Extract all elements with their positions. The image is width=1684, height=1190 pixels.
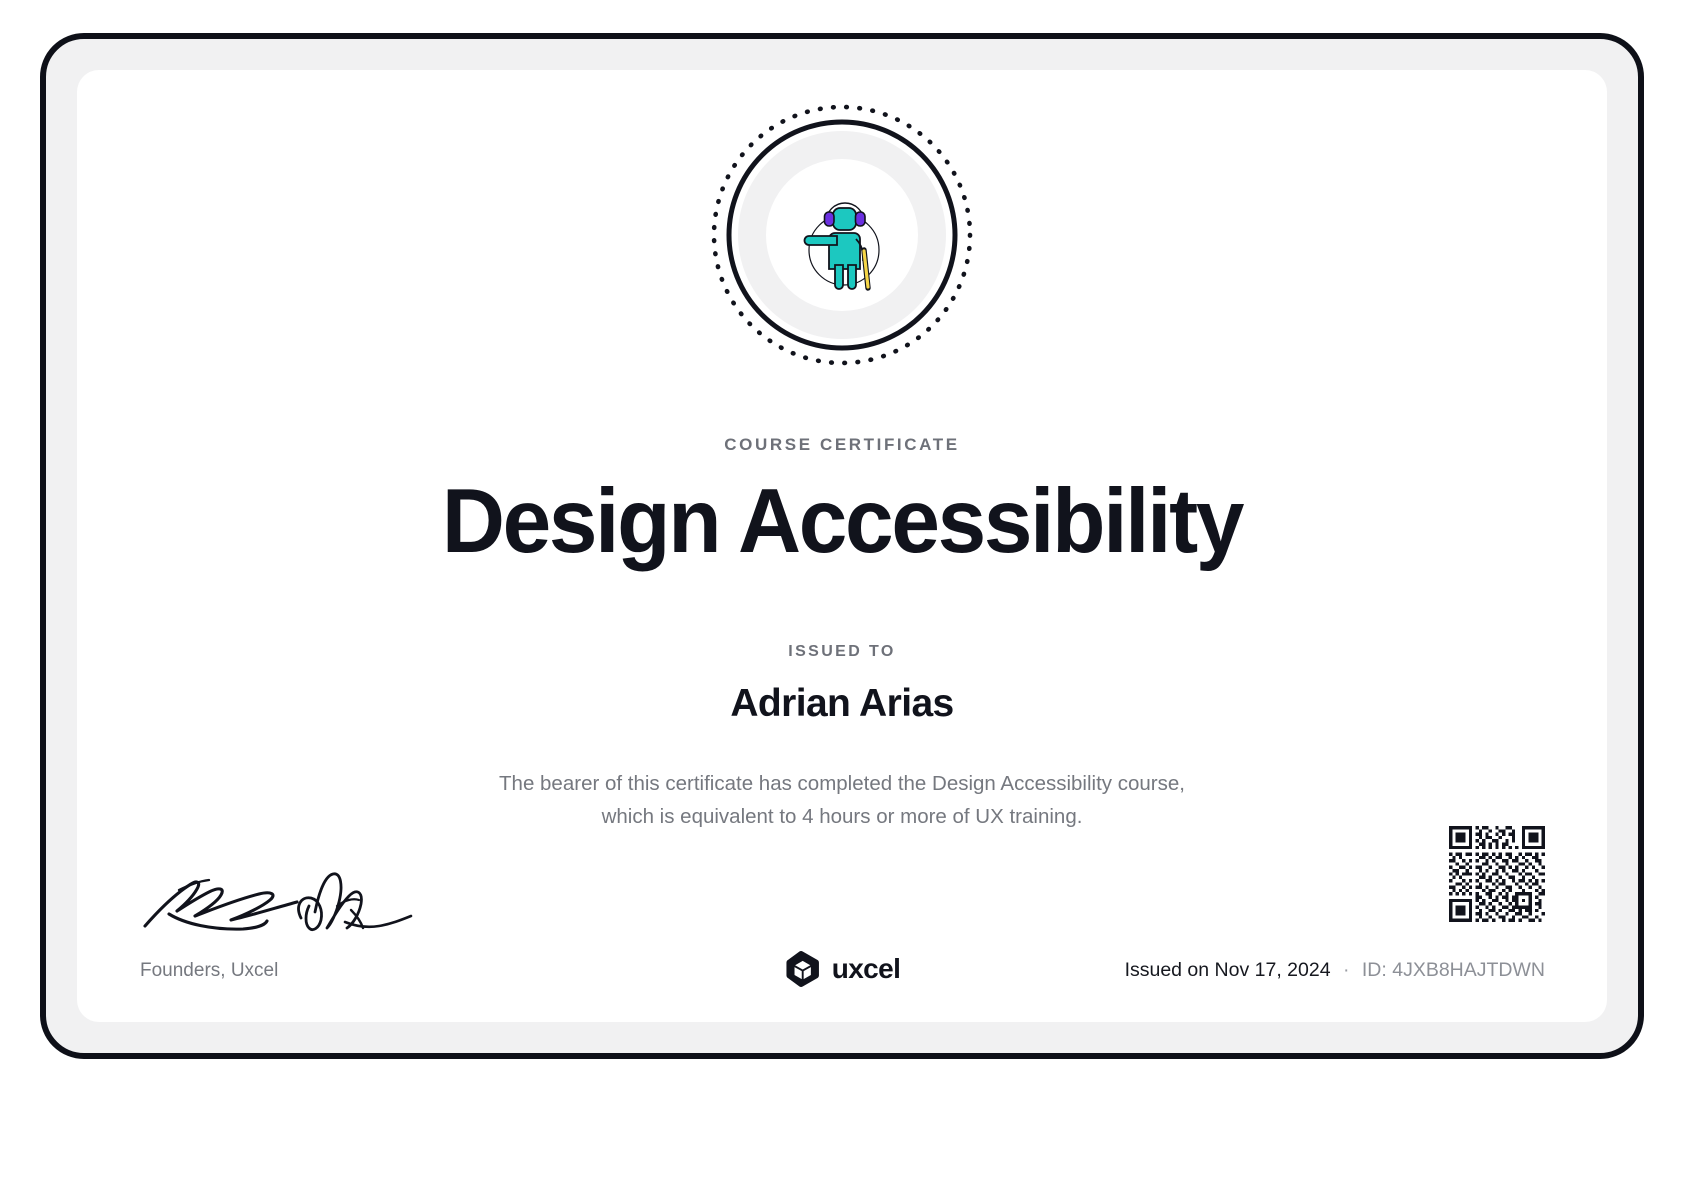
svg-text:UXCEL CERTIFIED ·: UXCEL CERTIFIED · [709,102,801,105]
signature-caption: Founders, Uxcel [140,960,278,982]
recipient-name: Adrian Arias [77,682,1607,726]
issue-info: Issued on Nov 17, 2024 · ID: 4JXB8HAJTDW… [1125,959,1545,982]
qr-code[interactable] [1449,826,1545,922]
seal-label-text: UXCEL CERTIFIED · UXCEL CERTIFIED · [709,102,801,105]
issued-on-date: Issued on Nov 17, 2024 [1125,959,1331,981]
issued-to-label: ISSUED TO [77,643,1607,661]
uxcel-brand-logo: uxcel [784,950,901,988]
certificate-frame: UXCEL CERTIFIED · UXCEL CERTIFIED · [40,33,1644,1059]
eyebrow-label: COURSE CERTIFICATE [77,435,1607,455]
certificate-description: The bearer of this certificate has compl… [432,767,1252,833]
description-line-2: which is equivalent to 4 hours or more o… [432,800,1252,833]
brand-name: uxcel [832,953,901,985]
svg-text:UXCEL CERTIFIED ·: UXCEL CERTIFIED · [709,102,801,105]
separator-dot: · [1336,959,1357,981]
founders-handwritten-signatures [139,840,439,940]
page-title: Design Accessibility [108,474,1577,570]
uxcel-hexagon-cube-logo [784,950,822,988]
certified-seal-badge: UXCEL CERTIFIED · UXCEL CERTIFIED · [709,102,975,368]
certificate-panel: UXCEL CERTIFIED · UXCEL CERTIFIED · [77,70,1607,1022]
certificate-id: ID: 4JXB8HAJTDWN [1362,959,1545,981]
description-line-1: The bearer of this certificate has compl… [432,767,1252,800]
